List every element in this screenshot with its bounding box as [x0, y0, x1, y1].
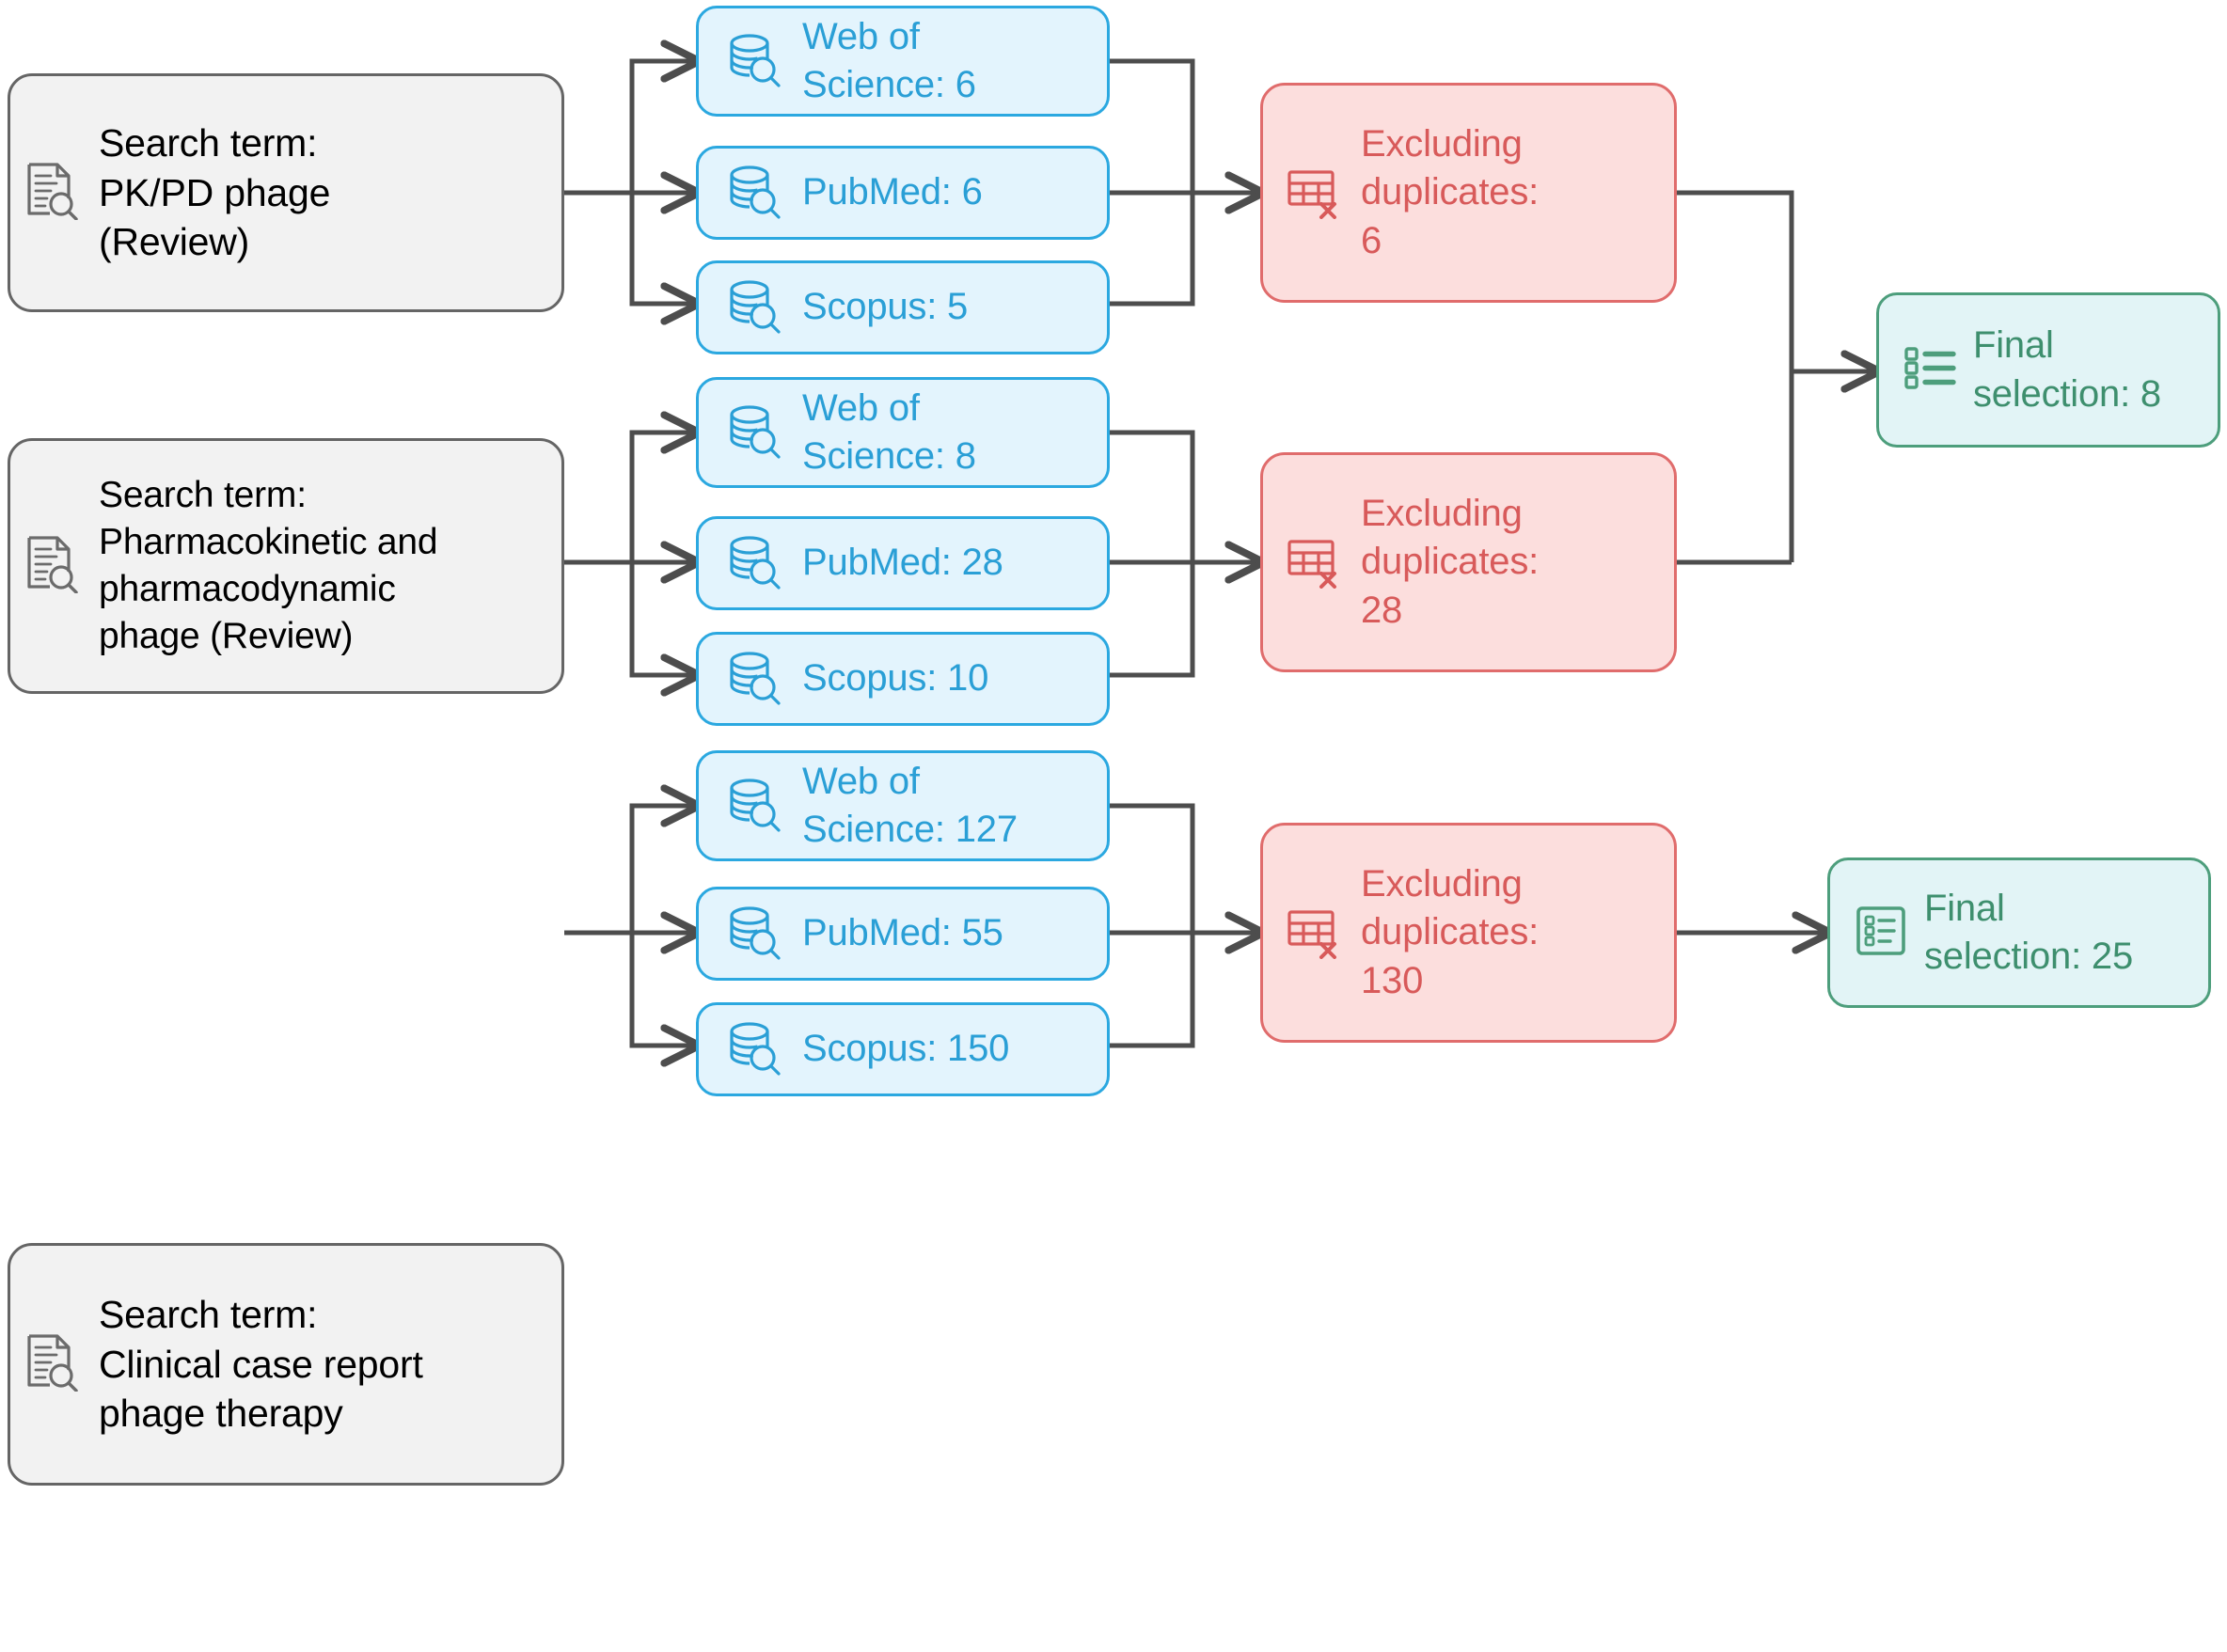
database-box-1-scopus[interactable]: Scopus: 5 [696, 260, 1110, 354]
database-box-2-wos[interactable]: Web of Science: 8 [696, 377, 1110, 488]
table-remove-icon [1286, 903, 1342, 964]
exclude-duplicates-label: Excluding duplicates: 6 [1361, 120, 1539, 265]
exclude-duplicates-box-1[interactable]: Excluding duplicates: 6 [1260, 83, 1677, 303]
boxed-list-icon [1855, 905, 1907, 962]
database-search-icon [725, 401, 783, 464]
database-label: Scopus: 10 [802, 654, 988, 702]
database-box-3-scopus[interactable]: Scopus: 150 [696, 1002, 1110, 1096]
database-search-icon [725, 775, 783, 838]
table-remove-icon [1286, 163, 1342, 224]
database-box-3-pubmed[interactable]: PubMed: 55 [696, 887, 1110, 981]
exclude-duplicates-label: Excluding duplicates: 28 [1361, 490, 1539, 635]
database-label: Scopus: 5 [802, 283, 968, 331]
database-box-3-wos[interactable]: Web of Science: 127 [696, 750, 1110, 861]
search-term-label: Search term: Pharmacokinetic and pharmac… [99, 472, 437, 660]
table-remove-icon [1286, 532, 1342, 593]
database-label: Web of Science: 6 [802, 13, 976, 109]
database-search-icon [725, 30, 783, 93]
database-label: Scopus: 150 [802, 1025, 1009, 1073]
flowchart-canvas: Search term: PK/PD phage (Review) Web of… [0, 0, 2227, 1652]
database-label: PubMed: 6 [802, 168, 983, 216]
document-search-icon [25, 162, 78, 225]
database-search-icon [725, 532, 783, 595]
database-search-icon [725, 276, 783, 339]
final-selection-label: Final selection: 25 [1924, 885, 2133, 981]
exclude-duplicates-box-3[interactable]: Excluding duplicates: 130 [1260, 823, 1677, 1043]
database-search-icon [725, 1018, 783, 1081]
search-term-label: Search term: PK/PD phage (Review) [99, 118, 330, 266]
database-box-2-scopus[interactable]: Scopus: 10 [696, 632, 1110, 726]
database-label: Web of Science: 127 [802, 758, 1018, 854]
bullet-list-icon [1903, 344, 1956, 396]
document-search-icon [25, 1333, 78, 1396]
database-search-icon [725, 648, 783, 711]
database-search-icon [725, 162, 783, 225]
database-box-1-pubmed[interactable]: PubMed: 6 [696, 146, 1110, 240]
exclude-duplicates-box-2[interactable]: Excluding duplicates: 28 [1260, 452, 1677, 672]
database-box-2-pubmed[interactable]: PubMed: 28 [696, 516, 1110, 610]
search-term-box-1[interactable]: Search term: PK/PD phage (Review) [8, 73, 564, 312]
search-term-label: Search term: Clinical case report phage … [99, 1290, 423, 1438]
final-selection-box-reviews[interactable]: Final selection: 8 [1876, 292, 2220, 448]
document-search-icon [25, 535, 78, 598]
final-selection-box-cases[interactable]: Final selection: 25 [1827, 857, 2211, 1008]
database-search-icon [725, 903, 783, 966]
search-term-box-2[interactable]: Search term: Pharmacokinetic and pharmac… [8, 438, 564, 694]
final-selection-label: Final selection: 8 [1973, 322, 2161, 417]
database-label: PubMed: 55 [802, 909, 1003, 957]
database-box-1-wos[interactable]: Web of Science: 6 [696, 6, 1110, 117]
exclude-duplicates-label: Excluding duplicates: 130 [1361, 860, 1539, 1005]
database-label: Web of Science: 8 [802, 385, 976, 480]
search-term-box-3[interactable]: Search term: Clinical case report phage … [8, 1243, 564, 1486]
database-label: PubMed: 28 [802, 539, 1003, 587]
